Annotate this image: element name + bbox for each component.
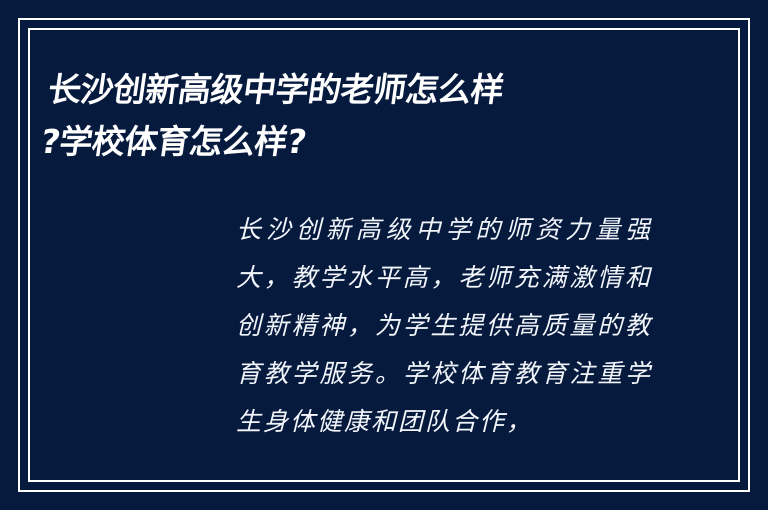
page-title-line-2: ?学校体育怎么样? — [37, 116, 644, 168]
body-paragraph-block: 长沙创新高级中学的师资力量强大，教学水平高，老师充满激情和创新精神，为学生提供高… — [236, 206, 652, 446]
page-title: 长沙创新高级中学的老师怎么样 ?学校体育怎么样? — [37, 64, 652, 168]
page-title-line-1: 长沙创新高级中学的老师怎么样 — [45, 64, 652, 116]
poster-canvas: 长沙创新高级中学的老师怎么样 ?学校体育怎么样? 长沙创新高级中学的师资力量强大… — [0, 0, 768, 510]
body-paragraph: 长沙创新高级中学的师资力量强大，教学水平高，老师充满激情和创新精神，为学生提供高… — [236, 206, 652, 446]
